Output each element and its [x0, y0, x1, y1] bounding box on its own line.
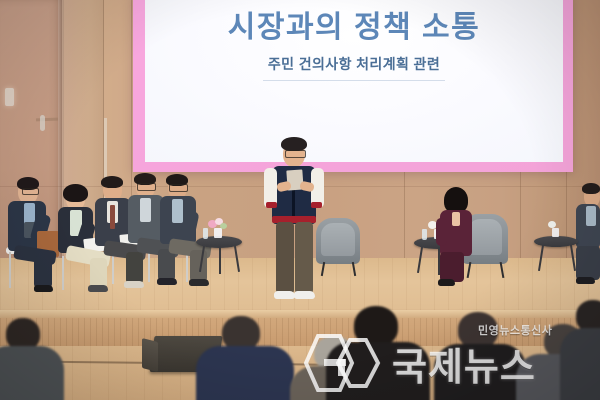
chair-leg	[112, 252, 114, 284]
glasses-icon	[285, 150, 306, 158]
cuff-right	[311, 202, 322, 208]
head	[222, 316, 260, 350]
projection-screen: 시장과의 정책 소통 주민 건의사항 처리계획 관련	[145, 0, 563, 162]
projection-screen-frame: 시장과의 정책 소통 주민 건의사항 처리계획 관련	[133, 0, 573, 172]
audience-member	[0, 318, 68, 400]
chair-leg	[9, 252, 11, 288]
leg	[90, 258, 107, 288]
body	[326, 342, 430, 400]
door-handle-icon	[40, 115, 45, 131]
trouser-leg-right	[295, 222, 313, 294]
leg	[158, 249, 175, 281]
audience-member	[196, 316, 292, 400]
necktie	[110, 205, 115, 229]
armchair-cushion	[321, 223, 354, 256]
table-leg	[219, 246, 221, 274]
shirt	[172, 199, 183, 223]
wall-sconce	[5, 88, 14, 106]
body	[560, 328, 600, 400]
shoe	[189, 279, 209, 286]
hair	[281, 137, 307, 151]
flower-vase	[214, 228, 222, 238]
shoe	[438, 279, 455, 286]
water-bottle	[203, 228, 208, 239]
stage-monitor-face	[142, 338, 158, 372]
shoe	[576, 277, 595, 284]
leg	[440, 252, 464, 282]
head	[354, 306, 398, 346]
arm	[436, 218, 447, 246]
neckline	[452, 212, 460, 226]
leg	[126, 252, 143, 284]
glasses-icon	[169, 184, 188, 192]
leg	[34, 256, 52, 288]
trouser-leg-left	[276, 222, 294, 294]
shoe	[88, 285, 108, 292]
flowers	[220, 223, 227, 229]
audience-member	[566, 300, 600, 400]
armchair-cushion	[468, 219, 503, 255]
chair-leg	[148, 250, 150, 282]
cuff-left	[266, 202, 277, 208]
hair	[63, 184, 88, 202]
leg	[190, 250, 207, 282]
hair	[101, 176, 123, 188]
shoe-left	[274, 291, 295, 299]
glasses-icon	[22, 188, 39, 195]
shirt	[586, 206, 596, 226]
head	[458, 312, 498, 348]
shoe	[157, 278, 177, 285]
audience-member	[436, 312, 522, 400]
armchair-centre	[316, 218, 360, 264]
flowers	[548, 221, 556, 228]
shoe	[124, 281, 144, 288]
flower-vase	[552, 228, 559, 237]
slide-subtitle: 주민 건의사항 처리계획 관련	[145, 54, 563, 74]
body	[196, 346, 294, 400]
slide-divider	[263, 80, 445, 81]
body	[0, 346, 64, 400]
shoe	[34, 285, 53, 292]
shirt	[140, 198, 151, 222]
water-bottle	[422, 229, 427, 240]
leg	[576, 246, 600, 280]
audience-member	[330, 306, 426, 400]
slide-title: 시장과의 정책 소통	[145, 2, 563, 46]
shoe-right	[294, 291, 315, 299]
glasses-icon	[137, 183, 156, 191]
hair	[582, 183, 600, 194]
chair-leg	[62, 256, 64, 290]
news-photo: 시장과의 정책 소통 주민 건의사항 처리계획 관련	[0, 0, 600, 400]
body	[434, 344, 526, 400]
